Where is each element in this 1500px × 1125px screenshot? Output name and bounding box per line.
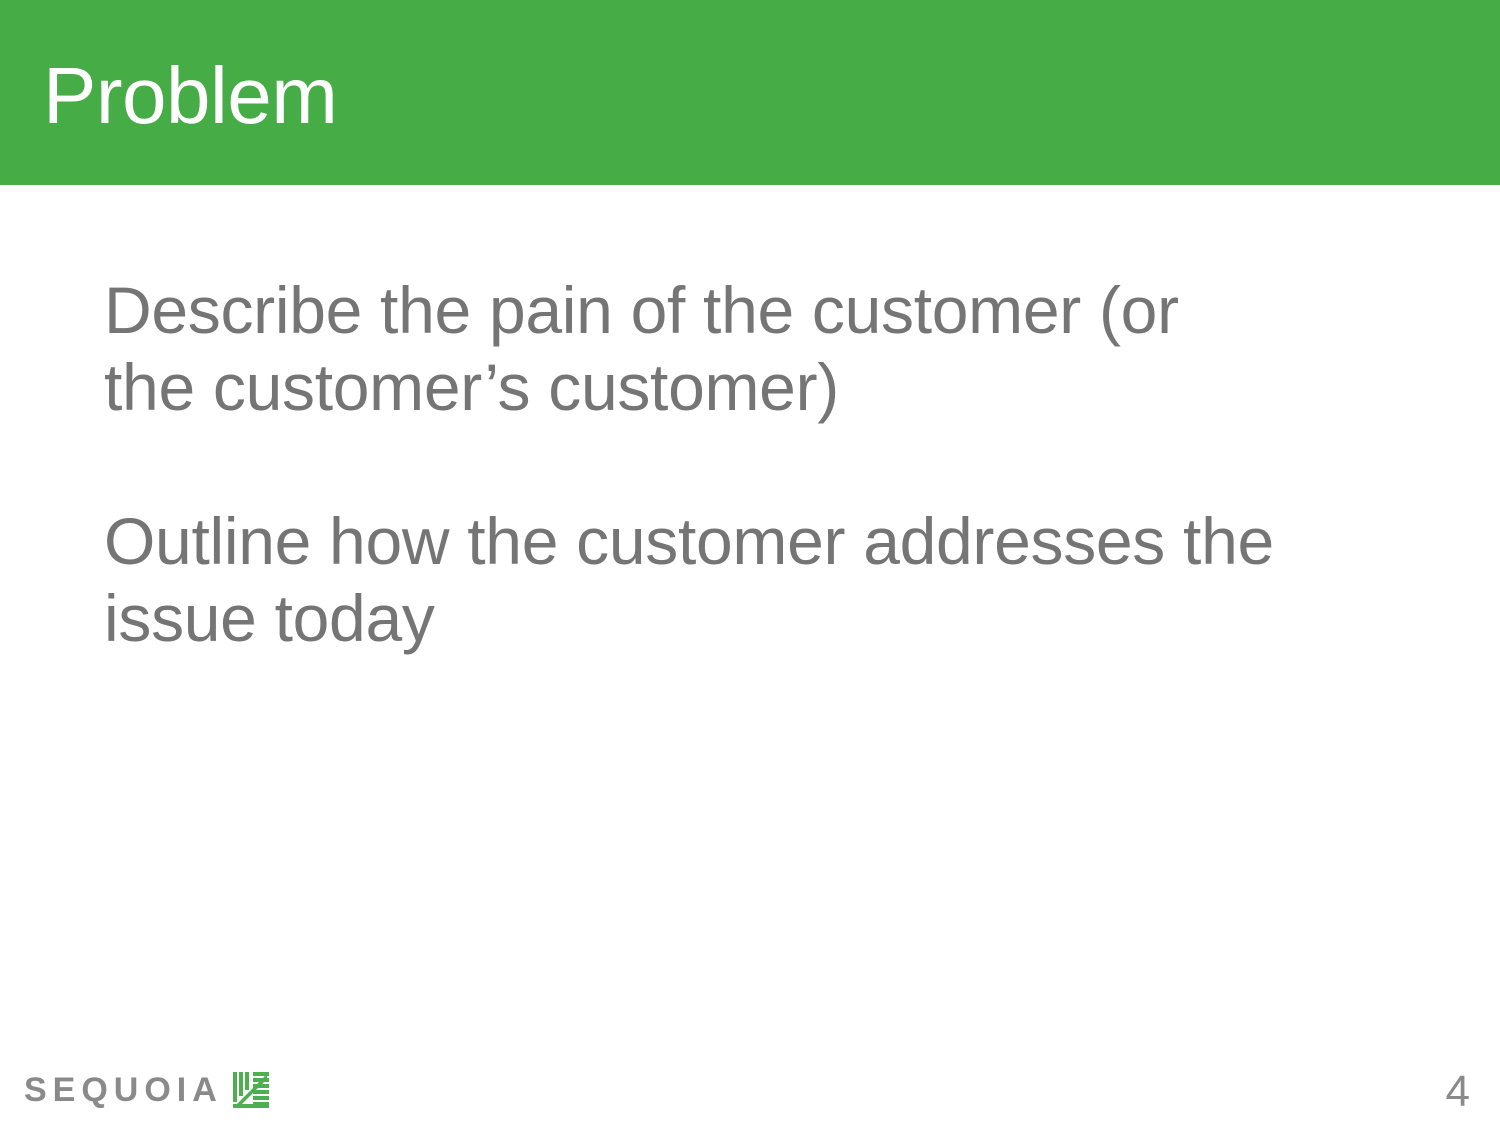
page-title: Problem [43, 48, 337, 144]
body-paragraph-1: Describe the pain of the customer (or th… [104, 272, 1284, 426]
sequoia-tree-mark-icon [232, 1071, 270, 1109]
sequoia-logo: SEQUOIA [24, 1068, 270, 1112]
slide-header-bar: Problem [0, 0, 1500, 185]
body-paragraph-2: Outline how the customer addresses the i… [104, 503, 1284, 657]
slide-body: Describe the pain of the customer (or th… [104, 272, 1284, 657]
paragraph-spacer [104, 426, 1284, 503]
page-number: 4 [1446, 1070, 1470, 1114]
sequoia-wordmark: SEQUOIA [24, 1073, 223, 1107]
presentation-slide: Problem Describe the pain of the custome… [0, 0, 1500, 1125]
